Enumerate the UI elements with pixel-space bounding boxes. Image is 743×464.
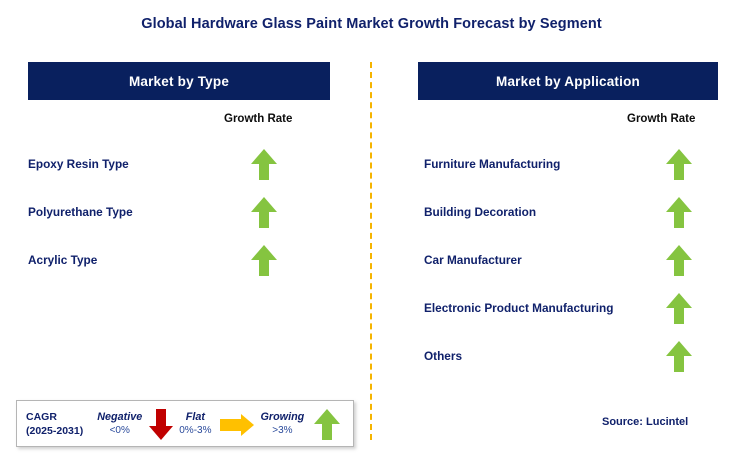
arrow-right-icon bbox=[220, 414, 254, 436]
list-item: Building Decoration bbox=[418, 188, 718, 236]
arrow-up-icon bbox=[666, 245, 692, 276]
segment-label: Others bbox=[424, 349, 462, 364]
arrow-up-icon bbox=[666, 341, 692, 372]
growth-rate-label-right: Growth Rate bbox=[627, 113, 695, 125]
legend-item-value: 0%-3% bbox=[179, 424, 211, 438]
list-item: Others bbox=[418, 332, 718, 380]
list-item: Acrylic Type bbox=[28, 236, 330, 284]
legend-item-name: Growing bbox=[260, 410, 304, 424]
segment-label: Building Decoration bbox=[424, 205, 536, 220]
list-item: Car Manufacturer bbox=[418, 236, 718, 284]
segment-label: Car Manufacturer bbox=[424, 253, 522, 268]
segment-list-application: Furniture Manufacturing Building Decorat… bbox=[418, 140, 718, 380]
arrow-up-icon bbox=[666, 293, 692, 324]
vertical-dashed-divider bbox=[370, 62, 372, 440]
page-title: Global Hardware Glass Paint Market Growt… bbox=[0, 16, 743, 32]
list-item: Epoxy Resin Type bbox=[28, 140, 330, 188]
segment-label: Polyurethane Type bbox=[28, 205, 133, 220]
growth-rate-label-left: Growth Rate bbox=[224, 113, 292, 125]
list-item: Furniture Manufacturing bbox=[418, 140, 718, 188]
legend-item-value: >3% bbox=[272, 424, 292, 438]
legend-item-flat: Flat 0%-3% bbox=[179, 410, 211, 438]
legend-item-growing: Growing >3% bbox=[260, 410, 304, 438]
arrow-up-icon bbox=[251, 149, 277, 180]
arrow-down-icon bbox=[149, 409, 173, 440]
legend-item-name: Flat bbox=[186, 410, 205, 424]
legend-cagr-title: CAGR bbox=[26, 410, 83, 424]
legend-cagr-label: CAGR (2025-2031) bbox=[26, 410, 83, 438]
list-item: Polyurethane Type bbox=[28, 188, 330, 236]
arrow-up-icon bbox=[666, 197, 692, 228]
arrow-up-icon bbox=[251, 245, 277, 276]
legend-item-name: Negative bbox=[97, 410, 142, 424]
panel-market-by-application: Market by Application bbox=[418, 62, 718, 100]
legend-item-negative: Negative <0% bbox=[97, 410, 142, 438]
infographic-page: Global Hardware Glass Paint Market Growt… bbox=[0, 0, 743, 464]
segment-label: Epoxy Resin Type bbox=[28, 157, 129, 172]
segment-label: Furniture Manufacturing bbox=[424, 157, 560, 172]
segment-label: Electronic Product Manufacturing bbox=[424, 301, 613, 316]
legend-cagr-years: (2025-2031) bbox=[26, 424, 83, 438]
legend-item-value: <0% bbox=[110, 424, 130, 438]
legend-box: CAGR (2025-2031) Negative <0% Flat 0%-3%… bbox=[16, 400, 354, 447]
list-item: Electronic Product Manufacturing bbox=[418, 284, 718, 332]
segment-list-type: Epoxy Resin Type Polyurethane Type Acryl… bbox=[28, 140, 330, 284]
panel-header-market-by-application: Market by Application bbox=[418, 62, 718, 100]
arrow-up-icon bbox=[314, 409, 340, 440]
arrow-up-icon bbox=[251, 197, 277, 228]
source-label: Source: Lucintel bbox=[602, 416, 688, 428]
panel-header-market-by-type: Market by Type bbox=[28, 62, 330, 100]
panel-market-by-type: Market by Type bbox=[28, 62, 330, 100]
segment-label: Acrylic Type bbox=[28, 253, 97, 268]
arrow-up-icon bbox=[666, 149, 692, 180]
